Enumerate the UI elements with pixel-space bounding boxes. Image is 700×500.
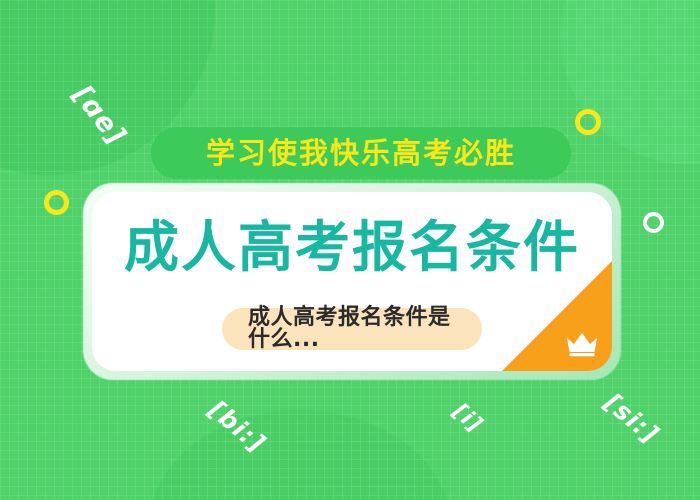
phonetic-i: [i]: [448, 399, 488, 438]
phonetic-si: [si:]: [599, 388, 665, 450]
subtitle-text: 成人高考报名条件是什么...: [248, 307, 456, 351]
main-card-body: 成人高考报名条件 成人高考报名条件是什么...: [92, 192, 612, 371]
decorative-ring-yellow-right: [575, 109, 601, 135]
subtitle-pill: 成人高考报名条件是什么...: [222, 308, 482, 350]
decorative-ring-white: [643, 212, 664, 233]
background-blob-top-right: [560, 0, 700, 165]
corner-ribbon: [502, 261, 612, 371]
top-banner: 学习使我快乐高考必胜: [151, 127, 571, 179]
crown-icon: [565, 331, 599, 357]
main-card: 成人高考报名条件 成人高考报名条件是什么...: [83, 183, 621, 380]
decorative-ring-yellow-left: [44, 190, 69, 215]
background-blob-bottom: [150, 410, 450, 500]
poster-canvas: [ɑe] [bi:] [i] [si:] 学习使我快乐高考必胜 成人高考报名条件…: [0, 0, 700, 500]
top-banner-text: 学习使我快乐高考必胜: [206, 139, 516, 168]
